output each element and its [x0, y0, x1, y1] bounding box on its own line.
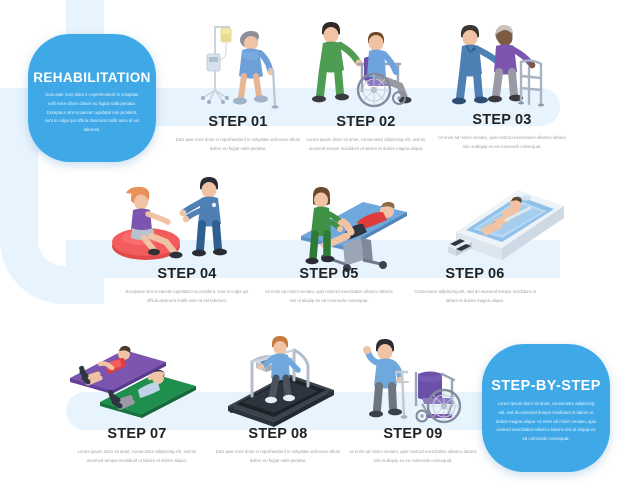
step-card-05: STEP 05 Ut enim ad minim veniam, quis no… — [254, 266, 404, 305]
step-body: Lorem ipsum dolor sit amet, consectetur … — [291, 135, 441, 153]
leg-therapy-table-icon — [283, 178, 411, 270]
infographic-canvas: STEP 01 Duis aute irure dolor in reprehe… — [0, 0, 626, 501]
illustration-step-01 — [185, 18, 295, 114]
nurse-pushing-wheelchair-icon — [300, 14, 412, 114]
step-card-06: STEP 06 Consectetur adipiscing elit, sed… — [400, 266, 550, 305]
step-card-07: STEP 07 Lorem ipsum dolor sit amet, cons… — [62, 426, 212, 465]
rehabilitation-badge: REHABILITATION Duis aute irure dolor in … — [28, 34, 156, 162]
rehabilitation-badge-body: Duis aute irure dolor in reprehenderit i… — [28, 85, 156, 135]
step-title: STEP 02 — [291, 114, 441, 130]
step-body: Ut enim ad minim veniam, quis nostrud ex… — [254, 287, 404, 305]
step-body: Consectetur adipiscing elit, sed do eius… — [400, 287, 550, 305]
treadmill-walking-icon — [216, 328, 344, 432]
illustration-step-07 — [62, 330, 200, 426]
illustration-step-06 — [442, 178, 568, 270]
step-card-02: STEP 02 Lorem ipsum dolor sit amet, cons… — [291, 114, 441, 153]
step-body: Duis aute irure dolor in reprehenderit i… — [203, 447, 353, 465]
rehabilitation-badge-title: REHABILITATION — [28, 70, 156, 85]
illustration-step-08 — [216, 328, 344, 432]
illustration-step-04 — [96, 172, 226, 266]
step-card-04: STEP 04 Excepteur sint occaecat cupidata… — [112, 266, 262, 305]
step-card-08: STEP 08 Duis aute irure dolor in reprehe… — [203, 426, 353, 465]
step-by-step-badge: STEP-BY-STEP Lorem ipsum dolor sit amet,… — [482, 344, 610, 472]
step-title: STEP 07 — [62, 426, 212, 442]
step-title: STEP 04 — [112, 266, 262, 282]
step-title: STEP 05 — [254, 266, 404, 282]
step-card-03: STEP 03 Ut enim ad minim veniam, quis no… — [427, 112, 577, 151]
step-body: Lorem ipsum dolor sit amet, consectetur … — [62, 447, 212, 465]
illustration-step-03 — [443, 12, 555, 112]
step-body: Excepteur sint occaecat cupidatat non pr… — [112, 287, 262, 305]
illustration-step-02 — [300, 14, 412, 114]
step-card-09: STEP 09 Ut enim ad minim veniam, quis no… — [338, 426, 488, 465]
nurse-assisting-walker-icon — [443, 12, 555, 112]
step-by-step-badge-body: Lorem ipsum dolor sit amet, consectetur … — [482, 394, 610, 444]
step-title: STEP 03 — [427, 112, 577, 128]
ribbon-elbow-bottom-left — [0, 152, 104, 304]
exercise-ball-therapy-icon — [96, 172, 226, 266]
step-by-step-badge-title: STEP-BY-STEP — [482, 378, 610, 394]
step-title: STEP 06 — [400, 266, 550, 282]
crutch-and-wheelchair-icon — [352, 328, 474, 432]
step-body: Ut enim ad minim veniam, quis nostrud ex… — [338, 447, 488, 465]
step-title: STEP 09 — [338, 426, 488, 442]
step-body: Ut enim ad minim veniam, quis nostrud ex… — [427, 133, 577, 151]
illustration-step-09 — [352, 328, 474, 432]
hydrotherapy-bathtub-icon — [442, 178, 568, 270]
sit-ups-on-mats-icon — [62, 330, 200, 426]
step-title: STEP 08 — [203, 426, 353, 442]
patient-with-cane-and-iv-stand-icon — [185, 18, 295, 114]
illustration-step-05 — [283, 178, 411, 270]
